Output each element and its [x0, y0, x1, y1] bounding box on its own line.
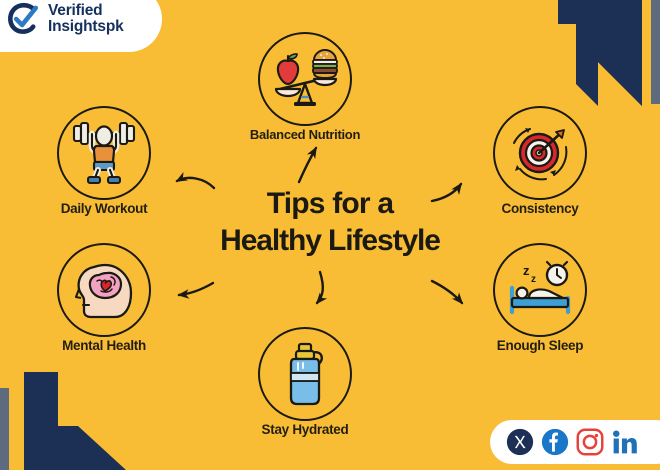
facebook-icon[interactable]: [541, 428, 569, 456]
bed-sleep-clock-icon: z z: [505, 260, 575, 320]
barbell-lifter-icon: [68, 120, 140, 186]
node-balanced-nutrition[interactable]: Balanced Nutrition: [255, 32, 355, 144]
verified-check-icon: [6, 2, 40, 36]
node-daily-workout-label: Daily Workout: [58, 201, 151, 216]
node-balanced-nutrition-ring: [258, 32, 352, 126]
node-daily-workout-ring: [57, 106, 151, 200]
svg-text:z: z: [523, 263, 530, 278]
svg-text:z: z: [531, 274, 536, 285]
node-enough-sleep-label: Enough Sleep: [494, 338, 586, 353]
infographic-canvas: Verified Insightspk Tips for a Healthy L…: [0, 0, 660, 470]
node-consistency-label: Consistency: [499, 201, 582, 216]
instagram-icon[interactable]: [576, 428, 604, 456]
node-balanced-nutrition-label: Balanced Nutrition: [247, 127, 363, 142]
node-stay-hydrated[interactable]: Stay Hydrated: [255, 327, 355, 439]
head-brain-heart-icon: [71, 259, 137, 321]
node-consistency[interactable]: Consistency: [490, 106, 590, 218]
node-daily-workout[interactable]: Daily Workout: [54, 106, 154, 218]
node-stay-hydrated-ring: [258, 327, 352, 421]
balance-scale-apple-burger-icon: [270, 47, 340, 111]
node-enough-sleep[interactable]: z z Enough Sleep: [490, 243, 590, 355]
water-bottle-icon: [279, 341, 331, 407]
brand-name: Verified Insightspk: [48, 3, 124, 36]
linkedin-icon[interactable]: [611, 428, 639, 456]
brand-name-line1: Verified: [48, 3, 124, 19]
target-arrow-icon: [506, 121, 574, 185]
brand-name-line2: Insightspk: [48, 19, 124, 35]
node-consistency-ring: [493, 106, 587, 200]
brand-logo[interactable]: Verified Insightspk: [0, 0, 162, 52]
node-mental-health[interactable]: Mental Health: [54, 243, 154, 355]
x-twitter-icon[interactable]: [506, 428, 534, 456]
social-links-bar: [490, 420, 660, 464]
node-mental-health-ring: [57, 243, 151, 337]
node-stay-hydrated-label: Stay Hydrated: [259, 422, 352, 437]
node-enough-sleep-ring: z z: [493, 243, 587, 337]
node-mental-health-label: Mental Health: [59, 338, 149, 353]
